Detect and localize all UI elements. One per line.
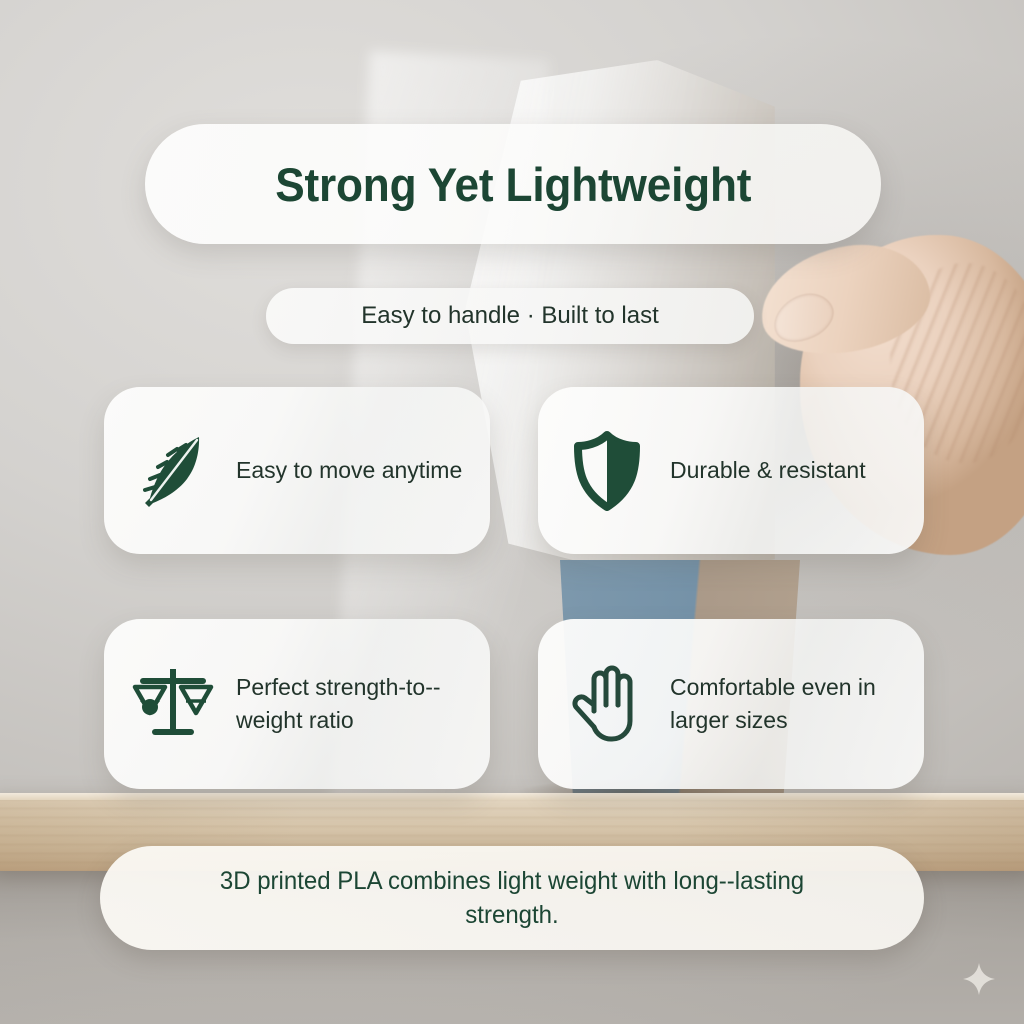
feature-card-durable[interactable]: Durable & resistant: [538, 387, 924, 554]
feature-card-easy-to-move[interactable]: Easy to move anytime: [104, 387, 490, 554]
title-pill: Strong Yet Lightweight: [145, 124, 881, 244]
shelf-top-edge: [0, 793, 1024, 800]
feature-card-label: Comfortable even in larger sizes: [670, 671, 906, 736]
feature-grid: Easy to move anytime Durable & resistant: [104, 387, 924, 786]
page-subtitle: Easy to handle · Built to last: [361, 302, 659, 330]
scales-icon: [132, 661, 214, 747]
feature-card-label: Easy to move anytime: [236, 454, 462, 487]
thumbnail: [766, 285, 841, 351]
feather-icon: [132, 428, 214, 514]
footer-caption: 3D printed PLA combines light weight wit…: [195, 864, 829, 933]
hand-icon: [566, 661, 648, 747]
subtitle-pill: Easy to handle · Built to last: [266, 288, 754, 344]
footer-pill: 3D printed PLA combines light weight wit…: [100, 846, 924, 950]
feature-card-label: Durable & resistant: [670, 454, 866, 487]
page-title: Strong Yet Lightweight: [275, 157, 751, 212]
shield-icon: [566, 428, 648, 514]
sparkle-icon: [962, 962, 996, 996]
feature-card-comfortable[interactable]: Comfortable even in larger sizes: [538, 619, 924, 789]
feature-card-label: Perfect strength-to--weight ratio: [236, 671, 472, 736]
infographic-canvas: Strong Yet Lightweight Easy to handle · …: [0, 0, 1024, 1024]
feature-card-strength-ratio[interactable]: Perfect strength-to--weight ratio: [104, 619, 490, 789]
